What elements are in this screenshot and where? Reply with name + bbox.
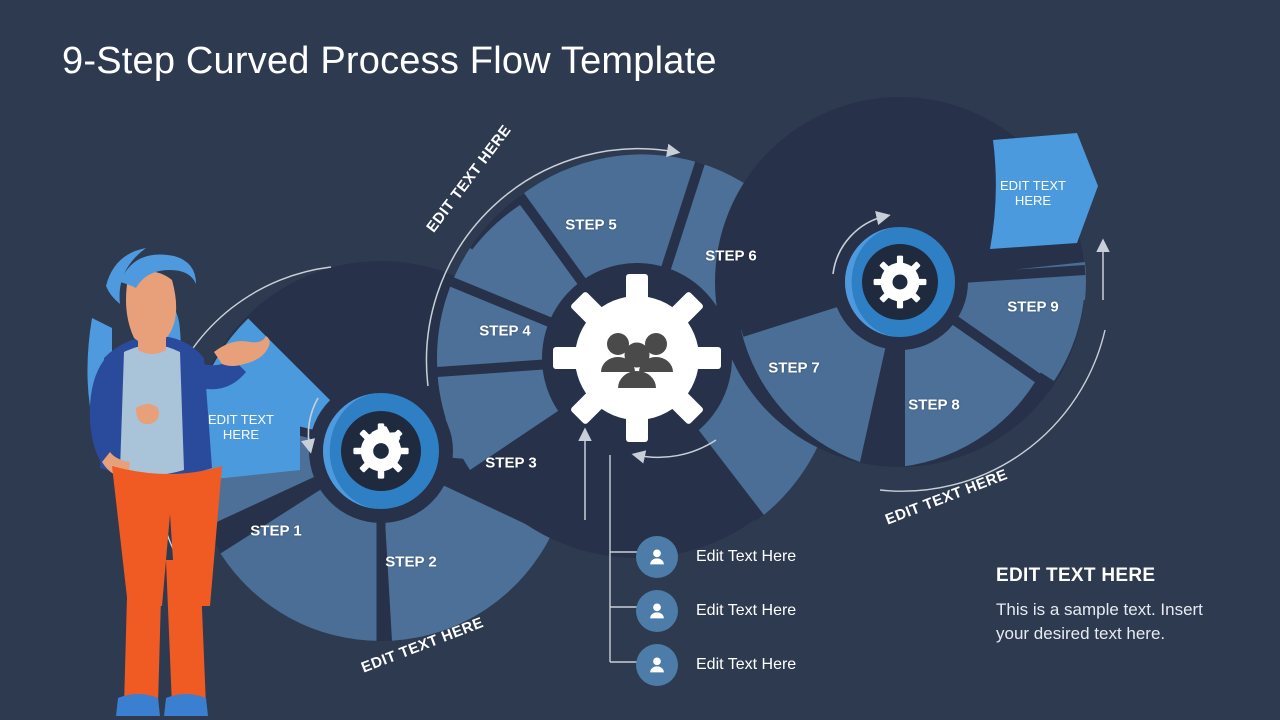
slide-canvas: 9-Step Curved Process Flow Template STEP…	[0, 0, 1280, 720]
list-item[interactable]: Edit Text Here	[636, 638, 796, 692]
list-item-label: Edit Text Here	[696, 656, 796, 674]
list-item-label: Edit Text Here	[696, 548, 796, 566]
segment-label-step2[interactable]: STEP 2	[385, 554, 436, 571]
segment-label-step7[interactable]: STEP 7	[768, 360, 819, 377]
page-title: 9-Step Curved Process Flow Template	[62, 40, 717, 83]
segment-label-step4[interactable]: STEP 4	[479, 323, 530, 340]
side-text-body: This is a sample text. Insert your desir…	[996, 598, 1226, 646]
side-text-heading: EDIT TEXT HERE	[996, 565, 1155, 587]
list-item[interactable]: Edit Text Here	[636, 584, 796, 638]
person-icon	[636, 590, 678, 632]
right-callout-label[interactable]: EDIT TEXT HERE	[1000, 179, 1066, 209]
group-people-gear-icon	[553, 274, 721, 442]
segment-label-step9[interactable]: STEP 9	[1007, 299, 1058, 316]
segment-label-step5[interactable]: STEP 5	[565, 217, 616, 234]
segment-label-step3[interactable]: STEP 3	[485, 455, 536, 472]
list-item[interactable]: Edit Text Here	[636, 530, 796, 584]
left-callout-label[interactable]: EDIT TEXT HERE	[208, 413, 274, 443]
segment-label-step1[interactable]: STEP 1	[250, 523, 301, 540]
gear-icon	[874, 256, 927, 309]
segment-label-step8[interactable]: STEP 8	[908, 397, 959, 414]
person-icon	[636, 644, 678, 686]
legend-list: Edit Text Here Edit Text Here Edit Text …	[636, 530, 796, 692]
gear-icon	[353, 423, 408, 478]
segment-label-step6[interactable]: STEP 6	[705, 248, 756, 265]
person-icon	[636, 536, 678, 578]
list-item-label: Edit Text Here	[696, 602, 796, 620]
